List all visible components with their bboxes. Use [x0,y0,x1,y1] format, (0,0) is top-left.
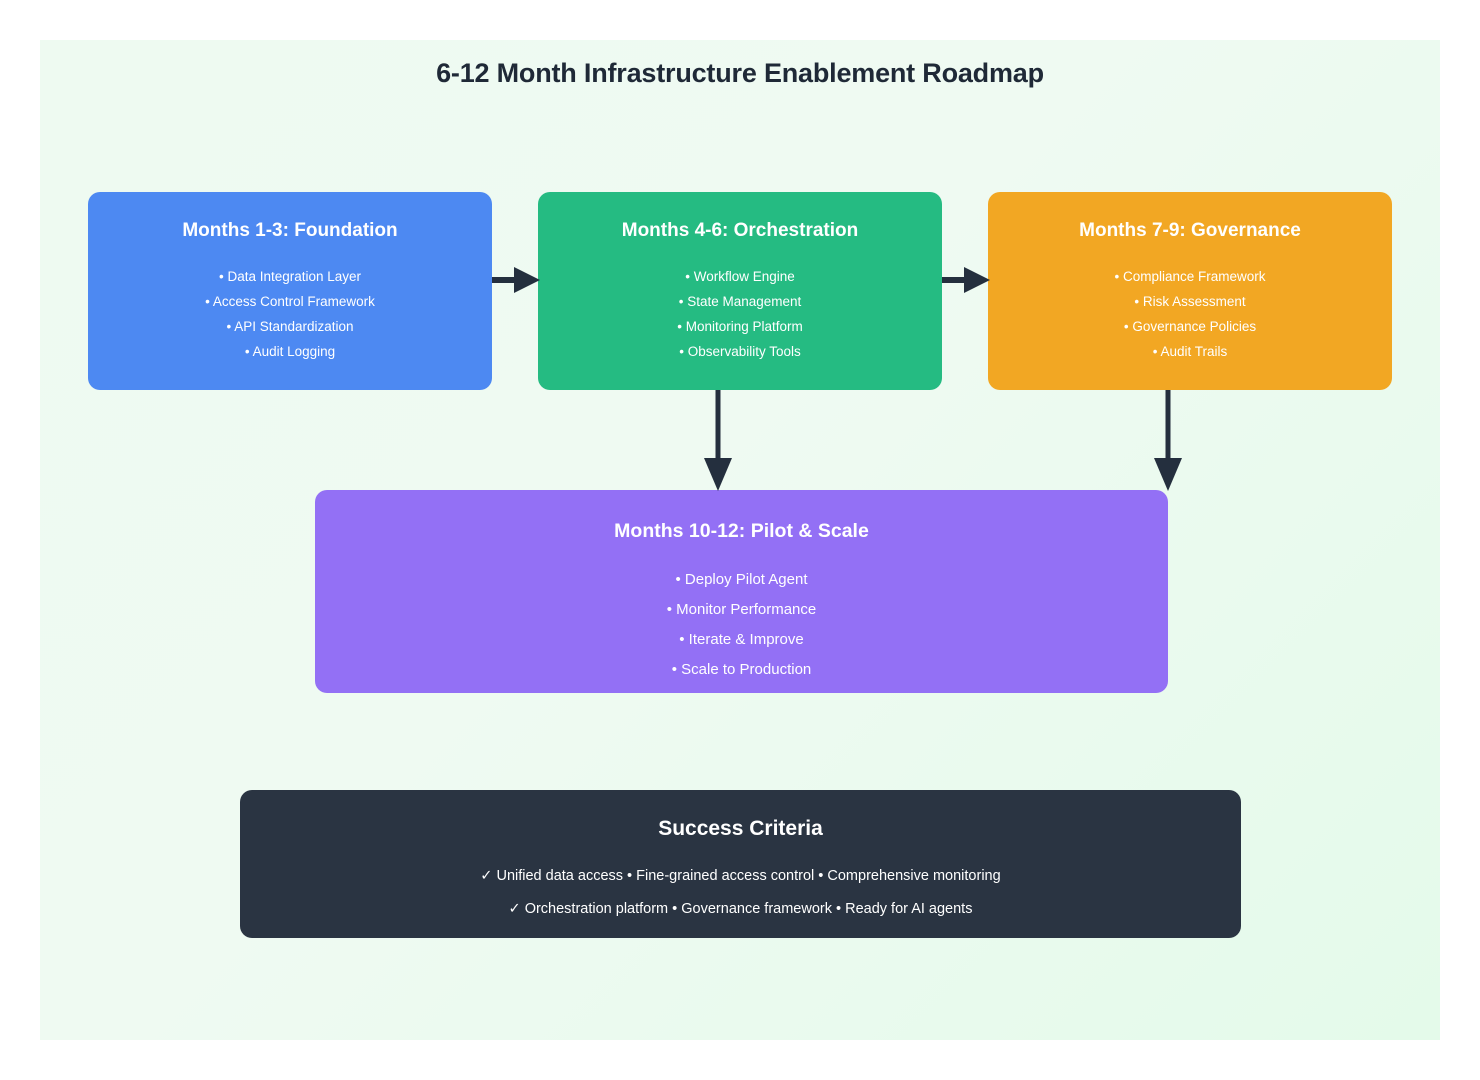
phase-box-foundation[interactable]: Months 1-3: Foundation • Data Integratio… [88,192,492,390]
phase-title-pilot-and-scale: Months 10-12: Pilot & Scale [315,520,1168,543]
page-title: 6-12 Month Infrastructure Enablement Roa… [40,58,1440,89]
arrow-foundation-to-orchestration [492,265,542,295]
list-item: • Risk Assessment [988,289,1392,314]
list-item: • Monitoring Platform [538,314,942,339]
phase-box-pilot-and-scale[interactable]: Months 10-12: Pilot & Scale • Deploy Pil… [315,490,1168,693]
phase-title-orchestration: Months 4-6: Orchestration [538,220,942,242]
phase-items-orchestration: • Workflow Engine • State Management • M… [538,264,942,364]
success-criteria-box: Success Criteria ✓ Unified data access •… [240,790,1241,938]
phase-items-pilot-and-scale: • Deploy Pilot Agent • Monitor Performan… [315,565,1168,685]
phase-items-governance: • Compliance Framework • Risk Assessment… [988,264,1392,364]
phase-box-governance[interactable]: Months 7-9: Governance • Compliance Fram… [988,192,1392,390]
list-item: • Deploy Pilot Agent [315,565,1168,595]
phase-title-foundation: Months 1-3: Foundation [88,220,492,242]
list-item: • Workflow Engine [538,264,942,289]
arrow-orchestration-to-governance [942,265,992,295]
list-item: • State Management [538,289,942,314]
list-item: • Governance Policies [988,314,1392,339]
diagram-canvas: 6-12 Month Infrastructure Enablement Roa… [40,40,1440,1040]
list-item: • Iterate & Improve [315,625,1168,655]
success-criteria-lines: ✓ Unified data access • Fine-grained acc… [240,860,1241,926]
arrow-governance-to-pilot [1150,390,1186,492]
phase-items-foundation: • Data Integration Layer • Access Contro… [88,264,492,364]
list-item: • Access Control Framework [88,289,492,314]
list-item: • Monitor Performance [315,595,1168,625]
arrow-orchestration-to-pilot [700,390,736,492]
list-item: • API Standardization [88,314,492,339]
list-item: • Audit Trails [988,339,1392,364]
success-criteria-line: ✓ Orchestration platform • Governance fr… [240,893,1241,926]
success-criteria-title: Success Criteria [240,817,1241,841]
success-criteria-line: ✓ Unified data access • Fine-grained acc… [240,860,1241,893]
list-item: • Scale to Production [315,655,1168,685]
list-item: • Observability Tools [538,339,942,364]
list-item: • Compliance Framework [988,264,1392,289]
phase-box-orchestration[interactable]: Months 4-6: Orchestration • Workflow Eng… [538,192,942,390]
list-item: • Audit Logging [88,339,492,364]
list-item: • Data Integration Layer [88,264,492,289]
phase-title-governance: Months 7-9: Governance [988,220,1392,242]
